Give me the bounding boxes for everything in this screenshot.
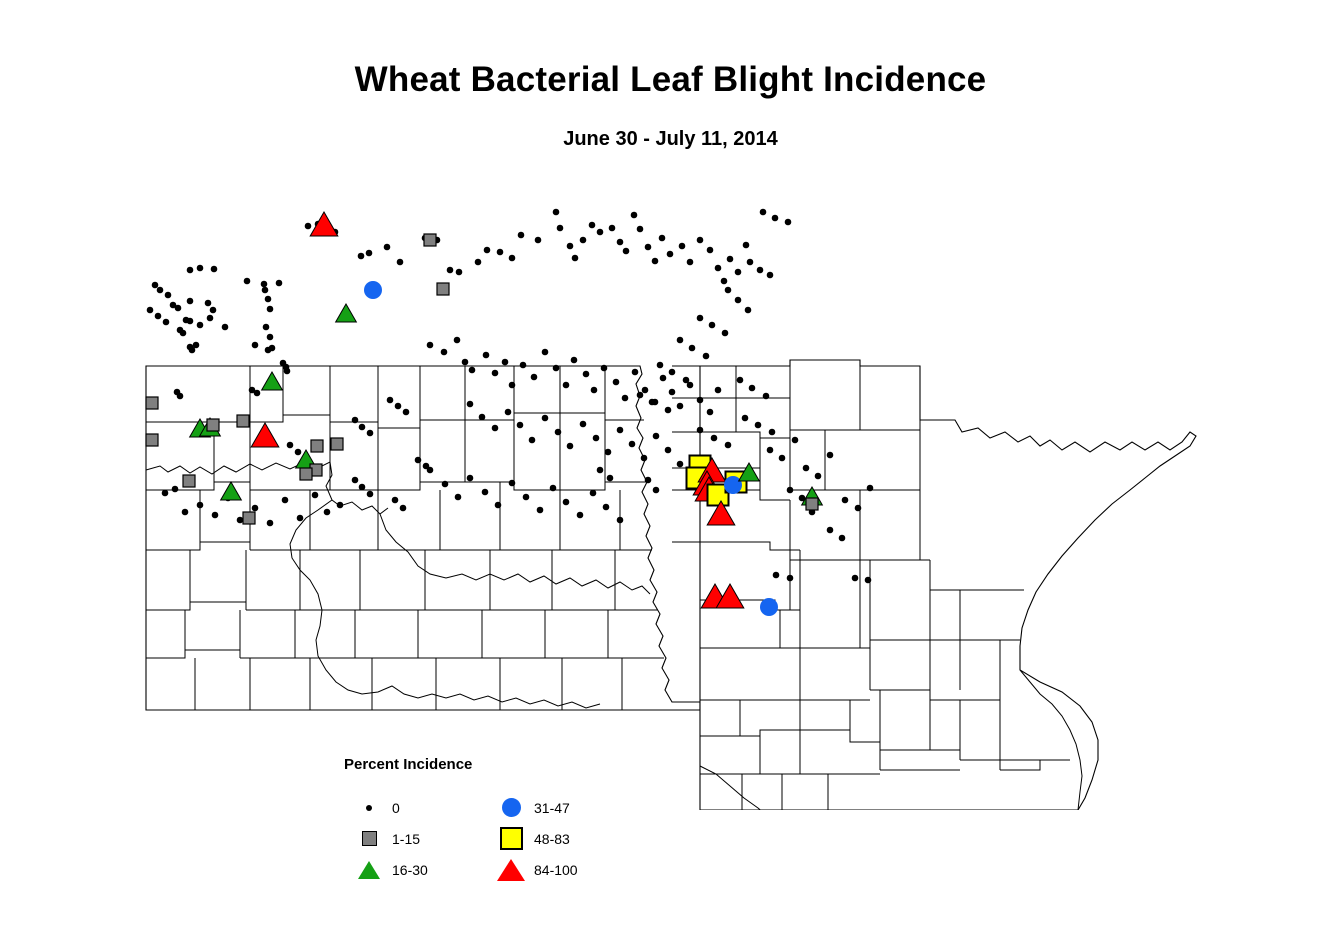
incidence-marker-0 [607, 475, 614, 482]
incidence-marker-0 [737, 377, 744, 384]
incidence-marker-0 [384, 244, 391, 251]
incidence-marker-0 [721, 278, 728, 285]
blue-circle-icon [496, 798, 526, 817]
incidence-marker-1-15 [207, 419, 219, 431]
incidence-marker-0 [366, 250, 373, 257]
incidence-marker-1-15 [146, 434, 158, 446]
incidence-marker-0 [509, 255, 516, 262]
incidence-marker-0 [205, 300, 212, 307]
incidence-marker-0 [352, 477, 359, 484]
incidence-marker-0 [182, 509, 189, 516]
incidence-marker-0 [415, 457, 422, 464]
incidence-marker-0 [210, 307, 217, 314]
incidence-marker-0 [397, 259, 404, 266]
legend-label-84-100: 84-100 [526, 862, 578, 878]
incidence-marker-0 [583, 371, 590, 378]
incidence-marker-0 [667, 251, 674, 258]
incidence-marker-0 [827, 452, 834, 459]
incidence-marker-0 [455, 494, 462, 501]
incidence-marker-0 [687, 259, 694, 266]
incidence-marker-0 [567, 243, 574, 250]
incidence-marker-0 [697, 397, 704, 404]
incidence-marker-0 [492, 425, 499, 432]
incidence-marker-0 [172, 486, 179, 493]
incidence-marker-0 [747, 259, 754, 266]
incidence-marker-0 [467, 475, 474, 482]
legend-label-31-47: 31-47 [526, 800, 570, 816]
incidence-marker-0 [400, 505, 407, 512]
incidence-marker-0 [197, 502, 204, 509]
incidence-marker-0 [492, 370, 499, 377]
incidence-marker-0 [520, 362, 527, 369]
incidence-marker-0 [537, 507, 544, 514]
incidence-marker-0 [653, 433, 660, 440]
incidence-marker-0 [742, 415, 749, 422]
mn-state-outline [672, 360, 1196, 810]
incidence-marker-0 [254, 390, 261, 397]
incidence-marker-1-15 [437, 283, 449, 295]
incidence-marker-0 [589, 222, 596, 229]
incidence-marker-0 [677, 403, 684, 410]
incidence-marker-1-15 [331, 438, 343, 450]
incidence-marker-0 [197, 265, 204, 272]
incidence-marker-0 [660, 375, 667, 382]
incidence-marker-0 [276, 280, 283, 287]
page-subtitle: June 30 - July 11, 2014 [0, 128, 1341, 151]
incidence-marker-0 [735, 297, 742, 304]
incidence-marker-0 [613, 379, 620, 386]
incidence-marker-0 [305, 223, 312, 230]
incidence-marker-0 [165, 292, 172, 299]
incidence-marker-0 [785, 219, 792, 226]
incidence-marker-0 [767, 447, 774, 454]
incidence-marker-0 [623, 248, 630, 255]
incidence-marker-0 [387, 397, 394, 404]
incidence-marker-0 [352, 417, 359, 424]
incidence-marker-0 [152, 282, 159, 289]
incidence-marker-0 [629, 441, 636, 448]
incidence-marker-0 [163, 319, 170, 326]
incidence-marker-0 [267, 334, 274, 341]
legend: Percent Incidence 0 1-15 16-30 31-47 [344, 756, 604, 876]
incidence-marker-0 [358, 253, 365, 260]
incidence-marker-0 [637, 392, 644, 399]
incidence-marker-0 [601, 365, 608, 372]
incidence-marker-0 [572, 255, 579, 262]
incidence-marker-0 [711, 435, 718, 442]
incidence-marker-0 [617, 239, 624, 246]
incidence-marker-0 [597, 229, 604, 236]
incidence-marker-0 [637, 226, 644, 233]
incidence-marker-0 [447, 267, 454, 274]
incidence-marker-0 [183, 317, 190, 324]
map-figure: Percent Incidence 0 1-15 16-30 31-47 [0, 170, 1341, 810]
incidence-marker-0 [423, 463, 430, 470]
red-triangle-icon [496, 859, 526, 881]
incidence-marker-0 [767, 272, 774, 279]
incidence-marker-0 [653, 487, 660, 494]
incidence-marker-0 [697, 427, 704, 434]
incidence-marker-16-30 [336, 304, 357, 322]
incidence-marker-0 [553, 365, 560, 372]
incidence-marker-0 [403, 409, 410, 416]
incidence-marker-0 [509, 382, 516, 389]
incidence-marker-0 [605, 449, 612, 456]
incidence-marker-0 [518, 232, 525, 239]
incidence-marker-1-15 [237, 415, 249, 427]
incidence-marker-0 [591, 387, 598, 394]
incidence-marker-0 [677, 461, 684, 468]
incidence-marker-0 [523, 494, 530, 501]
incidence-marker-0 [462, 359, 469, 366]
incidence-marker-0 [645, 477, 652, 484]
incidence-marker-0 [745, 307, 752, 314]
incidence-marker-0 [207, 315, 214, 322]
incidence-marker-0 [597, 467, 604, 474]
incidence-marker-31-47 [760, 598, 778, 616]
incidence-marker-0 [590, 490, 597, 497]
legend-label-48-83: 48-83 [526, 831, 570, 847]
incidence-marker-0 [454, 337, 461, 344]
incidence-marker-0 [367, 491, 374, 498]
incidence-marker-0 [709, 322, 716, 329]
legend-label-0: 0 [384, 800, 400, 816]
incidence-marker-0 [252, 505, 259, 512]
incidence-marker-0 [769, 429, 776, 436]
incidence-marker-0 [725, 442, 732, 449]
incidence-marker-0 [359, 424, 366, 431]
incidence-marker-0 [649, 399, 656, 406]
incidence-marker-0 [542, 415, 549, 422]
legend-column-right: 31-47 48-83 84-100 [496, 792, 578, 885]
incidence-marker-0 [657, 362, 664, 369]
incidence-marker-0 [749, 385, 756, 392]
incidence-marker-0 [442, 481, 449, 488]
incidence-marker-0 [580, 421, 587, 428]
incidence-marker-0 [632, 369, 639, 376]
incidence-marker-0 [641, 455, 648, 462]
incidence-marker-0 [803, 465, 810, 472]
incidence-marker-0 [479, 414, 486, 421]
incidence-marker-0 [502, 359, 509, 366]
incidence-marker-0 [267, 520, 274, 527]
incidence-marker-0 [211, 266, 218, 273]
incidence-marker-0 [162, 490, 169, 497]
incidence-marker-0 [517, 422, 524, 429]
green-triangle-icon [354, 861, 384, 879]
legend-item-48-83: 48-83 [496, 823, 578, 854]
incidence-marker-0 [267, 306, 274, 313]
incidence-marker-0 [715, 265, 722, 272]
gray-square-icon [354, 831, 384, 846]
incidence-marker-0 [263, 324, 270, 331]
incidence-marker-0 [456, 269, 463, 276]
incidence-marker-0 [697, 237, 704, 244]
incidence-marker-0 [482, 489, 489, 496]
incidence-marker-0 [652, 258, 659, 265]
incidence-marker-0 [760, 209, 767, 216]
north-dakota-counties [146, 366, 700, 710]
incidence-marker-0 [827, 527, 834, 534]
incidence-marker-0 [212, 512, 219, 519]
incidence-marker-0 [665, 407, 672, 414]
incidence-marker-0 [645, 244, 652, 251]
incidence-marker-0 [622, 395, 629, 402]
incidence-marker-0 [177, 393, 184, 400]
incidence-marker-0 [689, 345, 696, 352]
page-title: Wheat Bacterial Leaf Blight Incidence [0, 60, 1341, 100]
incidence-marker-31-47 [364, 281, 382, 299]
legend-title: Percent Incidence [344, 756, 604, 773]
incidence-marker-0 [757, 267, 764, 274]
incidence-marker-0 [867, 485, 874, 492]
incidence-marker-0 [359, 484, 366, 491]
incidence-marker-0 [603, 504, 610, 511]
incidence-marker-0 [865, 577, 872, 584]
legend-item-84-100: 84-100 [496, 854, 578, 885]
incidence-marker-0 [593, 435, 600, 442]
incidence-marker-0 [772, 215, 779, 222]
incidence-marker-0 [683, 377, 690, 384]
incidence-marker-0 [743, 242, 750, 249]
incidence-marker-0 [725, 287, 732, 294]
incidence-marker-0 [252, 342, 259, 349]
incidence-marker-0 [282, 497, 289, 504]
incidence-marker-0 [261, 281, 268, 288]
incidence-marker-0 [703, 353, 710, 360]
incidence-marker-0 [677, 337, 684, 344]
incidence-marker-0 [722, 330, 729, 337]
incidence-marker-0 [529, 437, 536, 444]
incidence-marker-31-47 [724, 476, 742, 494]
incidence-marker-0 [427, 342, 434, 349]
incidence-marker-0 [839, 535, 846, 542]
small-black-dot-icon [354, 805, 384, 811]
incidence-marker-0 [269, 345, 276, 352]
legend-item-0: 0 [354, 792, 428, 823]
incidence-marker-0 [467, 401, 474, 408]
incidence-marker-0 [707, 247, 714, 254]
incidence-marker-0 [395, 403, 402, 410]
incidence-marker-0 [244, 278, 251, 285]
incidence-marker-0 [567, 443, 574, 450]
incidence-marker-0 [193, 342, 200, 349]
incidence-marker-0 [563, 382, 570, 389]
incidence-marker-0 [617, 427, 624, 434]
incidence-marker-0 [531, 374, 538, 381]
incidence-marker-0 [679, 243, 686, 250]
incidence-marker-0 [484, 247, 491, 254]
incidence-marker-0 [509, 480, 516, 487]
incidence-marker-0 [295, 449, 302, 456]
incidence-marker-0 [631, 212, 638, 219]
incidence-marker-0 [237, 517, 244, 524]
incidence-marker-0 [697, 315, 704, 322]
incidence-marker-0 [505, 409, 512, 416]
incidence-marker-0 [180, 330, 187, 337]
minnesota-counties [672, 360, 1196, 810]
incidence-marker-0 [571, 357, 578, 364]
incidence-marker-0 [727, 256, 734, 263]
legend-item-16-30: 16-30 [354, 854, 428, 885]
incidence-marker-0 [287, 442, 294, 449]
incidence-marker-0 [735, 269, 742, 276]
incidence-marker-0 [324, 509, 331, 516]
incidence-marker-0 [715, 387, 722, 394]
incidence-marker-0 [157, 287, 164, 294]
incidence-marker-0 [755, 422, 762, 429]
incidence-marker-0 [284, 368, 291, 375]
incidence-marker-0 [617, 517, 624, 524]
legend-item-31-47: 31-47 [496, 792, 578, 823]
incidence-marker-0 [392, 497, 399, 504]
incidence-marker-0 [580, 237, 587, 244]
incidence-marker-0 [497, 249, 504, 256]
incidence-marker-0 [535, 237, 542, 244]
incidence-marker-0 [187, 267, 194, 274]
legend-label-1-15: 1-15 [384, 831, 420, 847]
incidence-marker-0 [337, 502, 344, 509]
legend-column-left: 0 1-15 16-30 [354, 792, 428, 885]
incidence-marker-0 [312, 492, 319, 499]
incidence-marker-0 [659, 235, 666, 242]
incidence-marker-0 [787, 575, 794, 582]
incidence-marker-1-15 [311, 440, 323, 452]
incidence-marker-0 [787, 487, 794, 494]
incidence-marker-0 [779, 455, 786, 462]
incidence-marker-1-15 [243, 512, 255, 524]
incidence-marker-84-100 [310, 212, 338, 236]
incidence-marker-0 [669, 369, 676, 376]
incidence-marker-0 [265, 296, 272, 303]
incidence-marker-0 [542, 349, 549, 356]
incidence-marker-0 [773, 572, 780, 579]
incidence-marker-0 [550, 485, 557, 492]
incidence-marker-1-15 [183, 475, 195, 487]
incidence-marker-0 [557, 225, 564, 232]
incidence-marker-0 [609, 225, 616, 232]
incidence-marker-0 [555, 429, 562, 436]
incidence-marker-0 [297, 515, 304, 522]
incidence-marker-0 [553, 209, 560, 216]
incidence-marker-0 [197, 322, 204, 329]
legend-label-16-30: 16-30 [384, 862, 428, 878]
incidence-marker-1-15 [300, 468, 312, 480]
incidence-marker-0 [483, 352, 490, 359]
incidence-marker-0 [792, 437, 799, 444]
map-svg [0, 170, 1341, 810]
incidence-marker-0 [577, 512, 584, 519]
incidence-marker-0 [665, 447, 672, 454]
incidence-marker-1-15 [424, 234, 436, 246]
incidence-marker-0 [367, 430, 374, 437]
incidence-marker-0 [495, 502, 502, 509]
incidence-marker-0 [475, 259, 482, 266]
incidence-marker-0 [262, 287, 269, 294]
incidence-marker-0 [852, 575, 859, 582]
incidence-marker-0 [763, 393, 770, 400]
incidence-marker-0 [642, 387, 649, 394]
incidence-marker-0 [187, 298, 194, 305]
legend-item-1-15: 1-15 [354, 823, 428, 854]
yellow-square-icon [496, 827, 526, 850]
incidence-marker-0 [563, 499, 570, 506]
incidence-marker-0 [155, 313, 162, 320]
incidence-marker-0 [147, 307, 154, 314]
incidence-marker-0 [855, 505, 862, 512]
incidence-marker-0 [669, 389, 676, 396]
incidence-marker-0 [815, 473, 822, 480]
incidence-marker-0 [842, 497, 849, 504]
incidence-marker-0 [222, 324, 229, 331]
incidence-marker-0 [707, 409, 714, 416]
incidence-marker-1-15 [146, 397, 158, 409]
incidence-marker-1-15 [806, 498, 818, 510]
incidence-marker-0 [175, 305, 182, 312]
incidence-marker-0 [469, 367, 476, 374]
incidence-marker-0 [441, 349, 448, 356]
